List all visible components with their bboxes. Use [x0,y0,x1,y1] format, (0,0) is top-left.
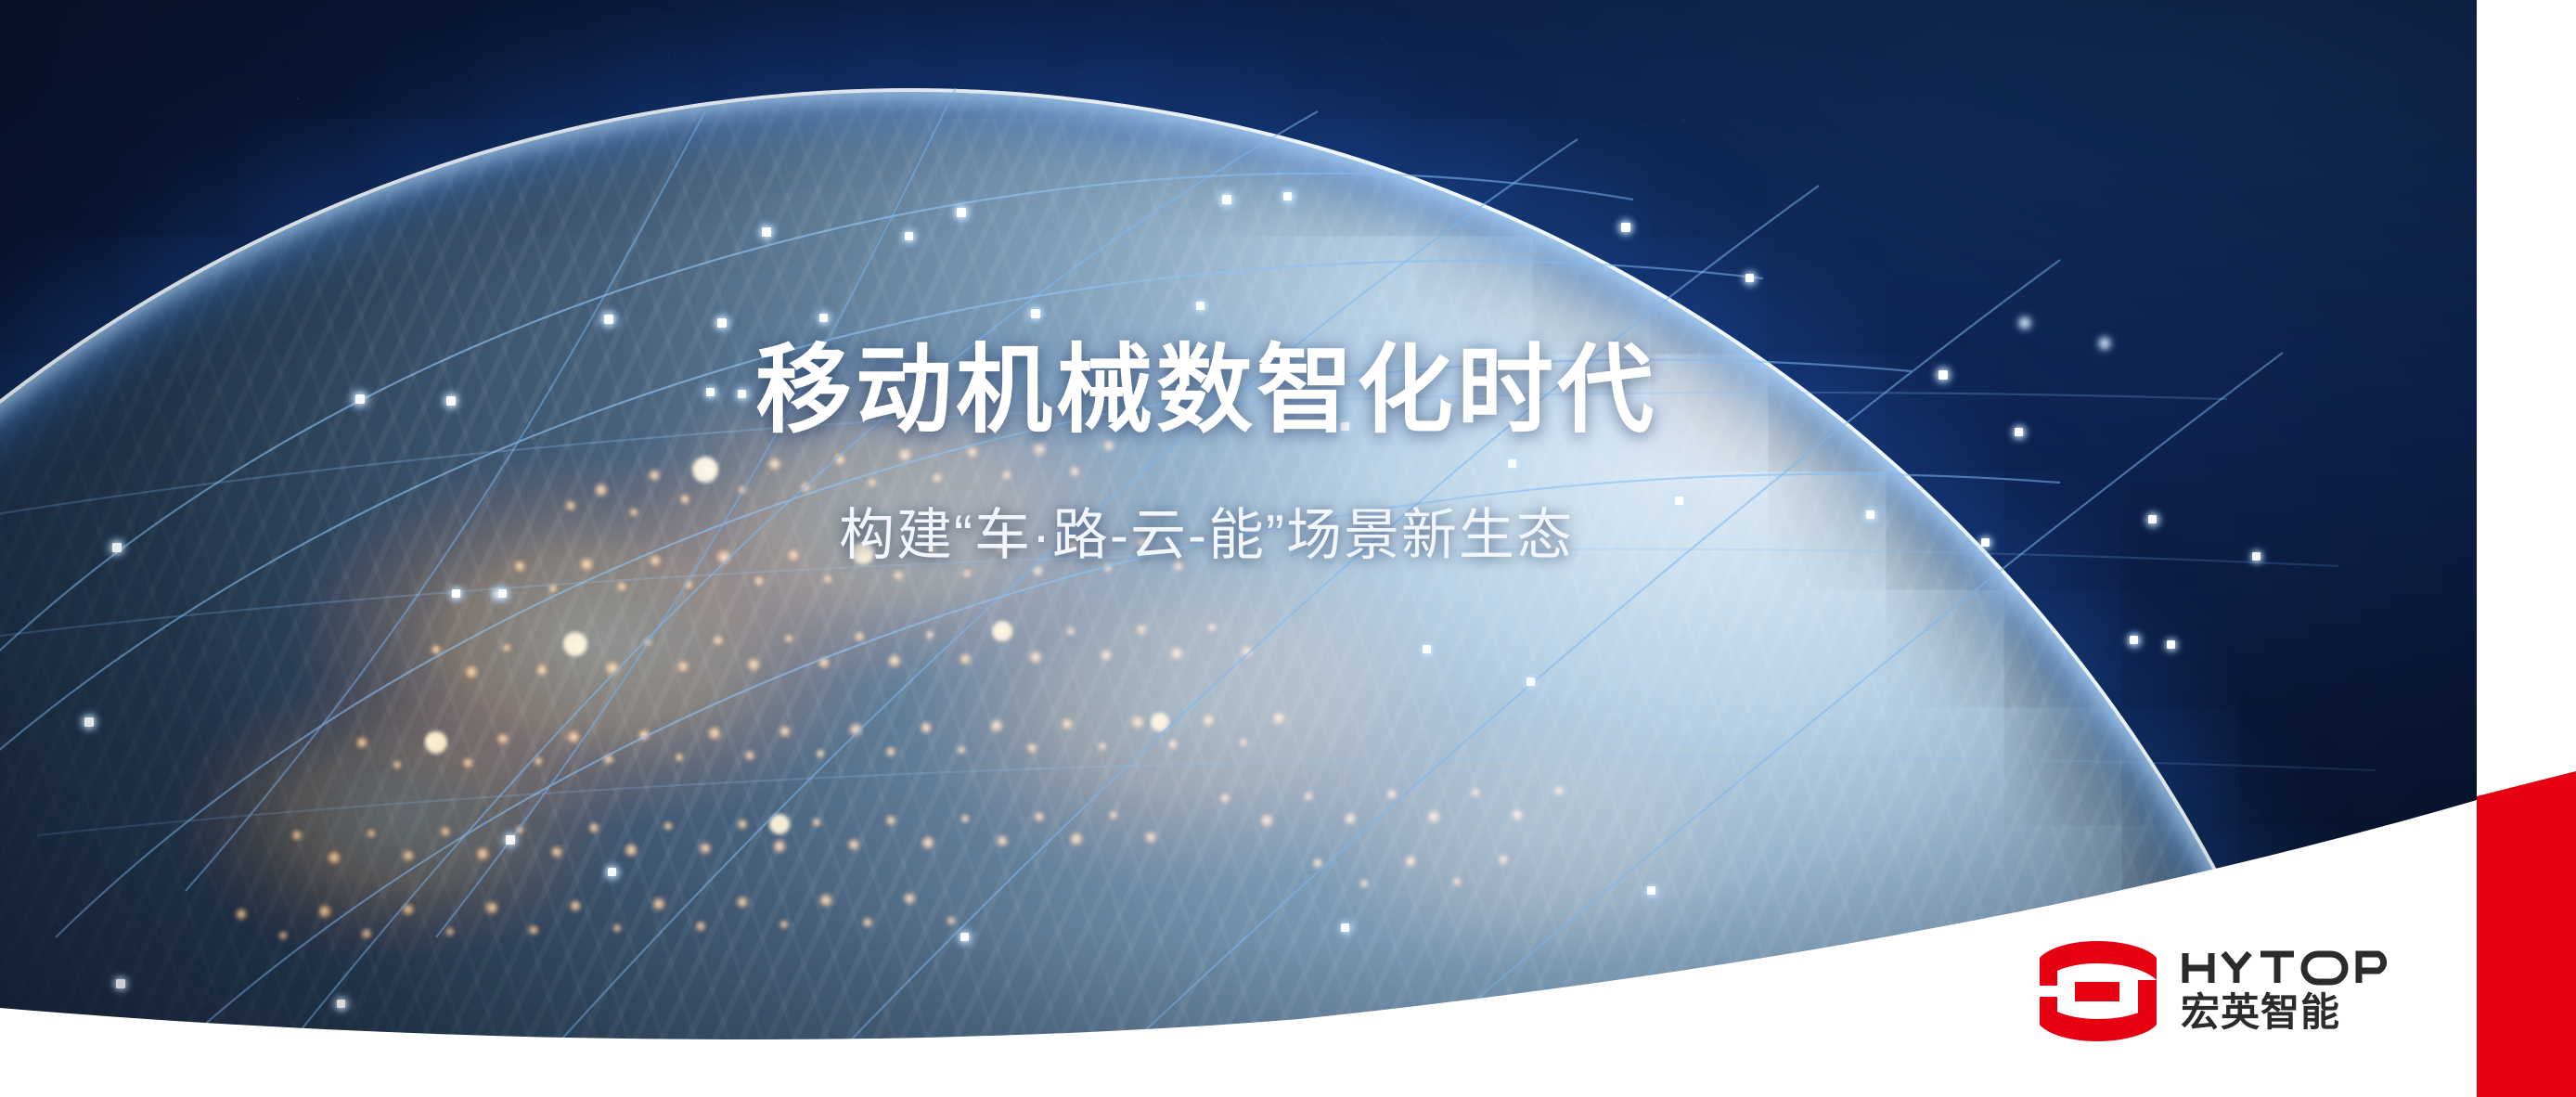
svg-text:宏英智能: 宏英智能 [2181,991,2340,1034]
brand-logo-text: 宏英智能 [2181,949,2396,1034]
brand-logo: 宏英智能 [2038,939,2396,1043]
red-accent-bar-wrapper [2467,725,2576,1097]
hongying-zhineng-wordmark: 宏英智能 [2181,991,2396,1034]
presentation-slide: 移动机械数智化时代 构建“车·路-云-能”场景新生态 [0,0,2576,1097]
red-accent-bar [2467,725,2576,1097]
hero-photo [0,0,2477,1097]
hytop-g-mark-icon [2038,939,2157,1043]
hytop-wordmark [2181,949,2396,987]
hero-image-region [0,0,2477,1097]
